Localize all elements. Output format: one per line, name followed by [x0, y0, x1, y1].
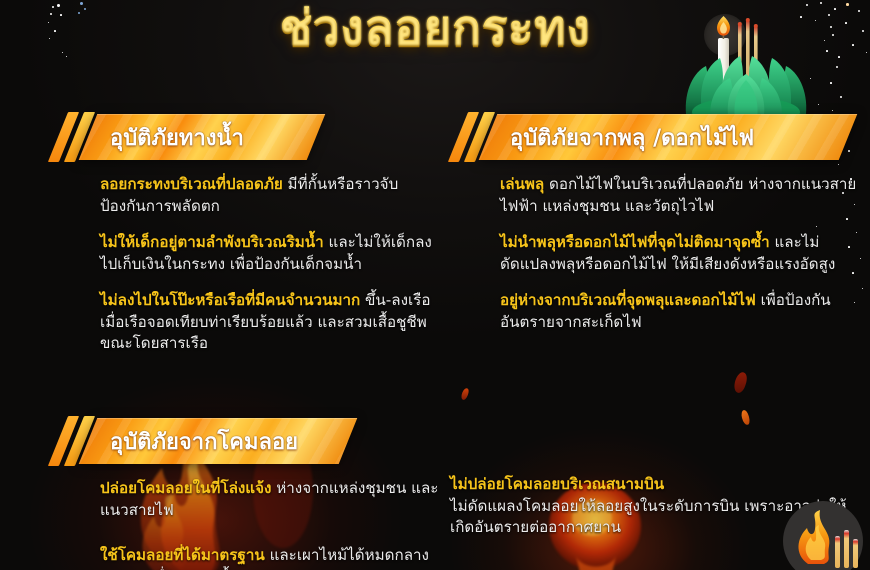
section-heading-water: อุบัติภัยทางน้ำ — [88, 114, 270, 160]
ember-icon — [740, 409, 750, 425]
list-item: อยู่ห่างจากบริเวณที่จุดพลุและดอกไม้ไฟ เพ… — [500, 290, 858, 333]
list-item: ไม่ลงไปในโป๊ะหรือเรือที่มีคนจำนวนมาก ขึ้… — [100, 290, 448, 355]
list-item: ปล่อยโคมลอยในที่โล่งแจ้ง ห่างจากแหล่งชุม… — [100, 478, 448, 521]
item-lead: ไม่ปล่อยโคมลอยบริเวณสนามบิน — [450, 475, 664, 493]
item-list-water: ลอยกระทงบริเวณที่ปลอดภัย มีที่กั้นหรือรา… — [58, 174, 448, 355]
item-lead: อยู่ห่างจากบริเวณที่จุดพลุและดอกไม้ไฟ — [500, 291, 756, 309]
infographic-canvas: ช่วงลอยกระทง — [0, 0, 870, 570]
list-item: ไม่นำพลุหรือดอกไม้ไฟที่จุดไม่ติดมาจุดซ้ำ… — [500, 232, 858, 275]
item-lead: เล่นพลุ — [500, 175, 544, 193]
list-item: ไม่ให้เด็กอยู่ตามลำพังบริเวณริมน้ำ และไม… — [100, 232, 448, 275]
item-rest: ดอกไม้ไฟในบริเวณที่ปลอดภัย ห่างจากแนวสาย… — [500, 175, 856, 215]
flame-and-incense-badge-icon — [780, 498, 866, 570]
item-lead: ปล่อยโคมลอยในที่โล่งแจ้ง — [100, 479, 271, 497]
item-lead: ไม่นำพลุหรือดอกไม้ไฟที่จุดไม่ติดมาจุดซ้ำ — [500, 233, 770, 251]
section-firework-accidents: อุบัติภัยจากพลุ /ดอกไม้ไฟ เล่นพลุ ดอกไม้… — [458, 114, 858, 348]
ember-icon — [460, 387, 470, 400]
section-banner-firework: อุบัติภัยจากพลุ /ดอกไม้ไฟ — [458, 114, 858, 160]
section-heading-firework: อุบัติภัยจากพลุ /ดอกไม้ไฟ — [488, 114, 780, 160]
item-list-lantern: ปล่อยโคมลอยในที่โล่งแจ้ง ห่างจากแหล่งชุม… — [58, 478, 448, 570]
list-item: เล่นพลุ ดอกไม้ไฟในบริเวณที่ปลอดภัย ห่างจ… — [500, 174, 858, 217]
list-item: ลอยกระทงบริเวณที่ปลอดภัย มีที่กั้นหรือรา… — [100, 174, 448, 217]
item-lead: ไม่ให้เด็กอยู่ตามลำพังบริเวณริมน้ำ — [100, 233, 324, 251]
section-heading-lantern: อุบัติภัยจากโคมลอย — [88, 418, 324, 464]
list-item: ใช้โคมลอยที่ได้มาตรฐาน และเผาไหม้ได้หมดก… — [100, 545, 448, 570]
section-lantern-accidents: อุบัติภัยจากโคมลอย ปล่อยโคมลอยในที่โล่งแ… — [58, 418, 448, 570]
ember-icon — [732, 371, 749, 394]
item-list-firework: เล่นพลุ ดอกไม้ไฟในบริเวณที่ปลอดภัย ห่างจ… — [458, 174, 858, 333]
section-water-accidents: อุบัติภัยทางน้ำ ลอยกระทงบริเวณที่ปลอดภัย… — [58, 114, 448, 370]
item-lead: ลอยกระทงบริเวณที่ปลอดภัย — [100, 175, 283, 193]
section-banner-water: อุบัติภัยทางน้ำ — [58, 114, 448, 160]
section-banner-lantern: อุบัติภัยจากโคมลอย — [58, 418, 448, 464]
item-lead: ใช้โคมลอยที่ได้มาตรฐาน — [100, 546, 265, 564]
item-lead: ไม่ลงไปในโป๊ะหรือเรือที่มีคนจำนวนมาก — [100, 291, 360, 309]
